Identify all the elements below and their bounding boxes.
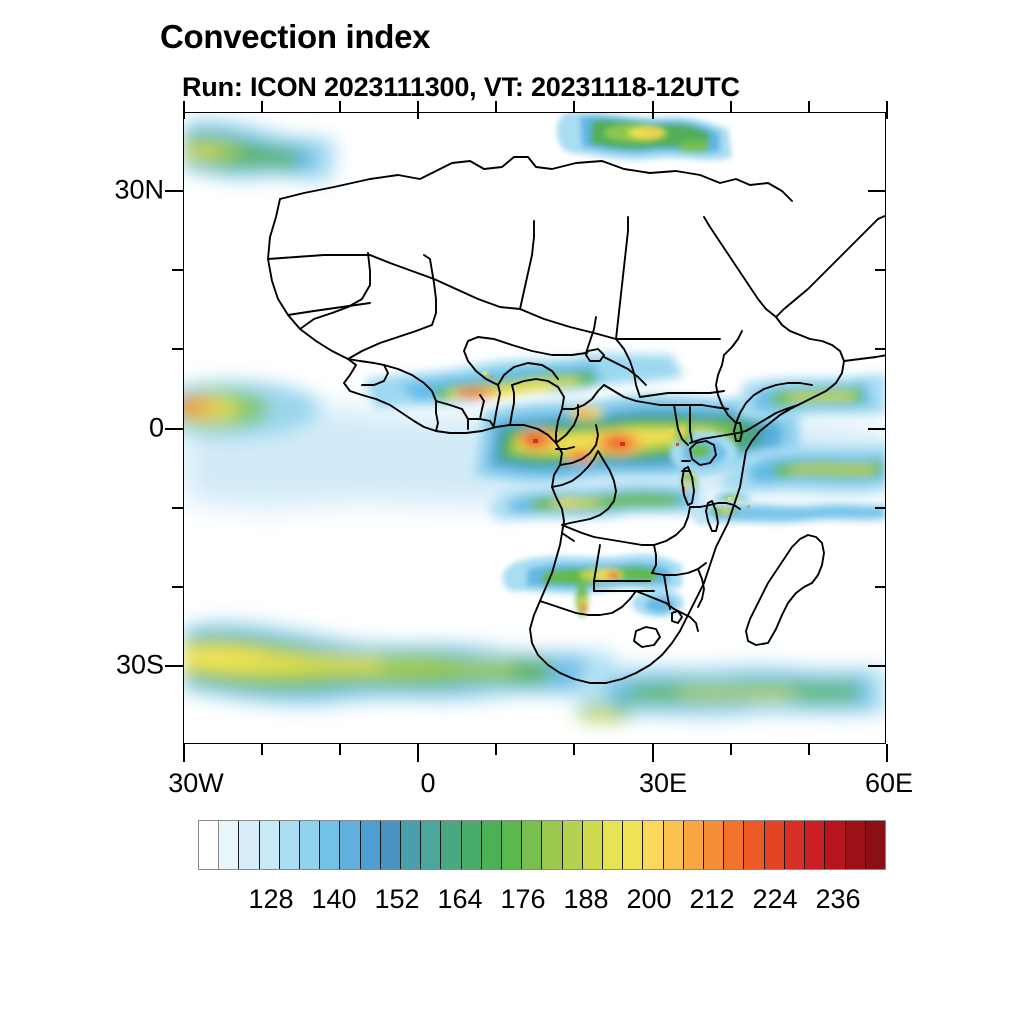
colorbar-cell-4 — [280, 821, 300, 869]
convection-index-map — [184, 113, 886, 744]
ytick-10s — [172, 507, 183, 509]
colorbar-label-164: 164 — [437, 884, 482, 915]
xtick-top-20w — [261, 101, 263, 112]
xtick-label-30e: 30E — [639, 768, 687, 799]
colorbar-cell-23 — [664, 821, 684, 869]
xtick-top-10w — [339, 101, 341, 112]
colorbar-cell-19 — [583, 821, 603, 869]
colorbar-label-236: 236 — [815, 884, 860, 915]
colorbar-cell-2 — [239, 821, 259, 869]
colorbar-cell-28 — [765, 821, 785, 869]
colorbar-cell-21 — [623, 821, 643, 869]
xtick-10w — [339, 744, 341, 755]
colorbar-cell-24 — [684, 821, 704, 869]
xtick-top-50e — [808, 101, 810, 112]
xtick-top-60e — [886, 101, 888, 119]
colorbar-cell-8 — [361, 821, 381, 869]
xtick-top-30w — [183, 101, 185, 119]
xtick-top-30e — [652, 101, 654, 119]
page-title: Convection index — [160, 18, 430, 56]
colorbar-cell-26 — [724, 821, 744, 869]
ytick-right-30n — [868, 190, 886, 192]
colorbar-cell-18 — [563, 821, 583, 869]
ytick-right-10s — [875, 507, 886, 509]
colorbar-cell-13 — [462, 821, 482, 869]
colorbar-cell-20 — [603, 821, 623, 869]
colorbar-cell-17 — [542, 821, 562, 869]
xtick-30w — [183, 744, 185, 762]
colorbar-cell-25 — [704, 821, 724, 869]
colorbar-label-224: 224 — [752, 884, 797, 915]
xtick-40e — [730, 744, 732, 755]
colorbar-cell-9 — [381, 821, 401, 869]
ytick-10n — [172, 348, 183, 350]
colorbar-cell-3 — [260, 821, 280, 869]
colorbar-cell-31 — [825, 821, 845, 869]
colorbar-label-200: 200 — [626, 884, 671, 915]
xtick-30e — [652, 744, 654, 762]
xtick-label-30w: 30W — [168, 768, 224, 799]
xtick-20e — [573, 744, 575, 755]
colorbar-cell-33 — [866, 821, 885, 869]
colorbar-label-212: 212 — [689, 884, 734, 915]
ytick-right-20s — [875, 586, 886, 588]
colorbar-cell-12 — [441, 821, 461, 869]
xtick-0 — [417, 744, 419, 762]
colorbar-cell-0 — [199, 821, 219, 869]
colorbar-cell-16 — [522, 821, 542, 869]
xtick-top-20e — [573, 101, 575, 112]
ytick-right-0 — [868, 428, 886, 430]
xtick-label-0: 0 — [420, 768, 435, 799]
ytick-label-30s: 30S — [116, 650, 164, 681]
xtick-50e — [808, 744, 810, 755]
xtick-top-40e — [730, 101, 732, 112]
colorbar-label-128: 128 — [248, 884, 293, 915]
colorbar-cell-30 — [805, 821, 825, 869]
colorbar-cell-32 — [846, 821, 866, 869]
run-valid-time-subtitle: Run: ICON 2023111300, VT: 20231118-12UTC — [182, 72, 740, 103]
ytick-20n — [172, 269, 183, 271]
colorbar-label-140: 140 — [311, 884, 356, 915]
ytick-label-0: 0 — [149, 413, 164, 444]
xtick-10e — [495, 744, 497, 755]
colorbar[interactable] — [198, 820, 886, 870]
ytick-right-30s — [868, 665, 886, 667]
ytick-30n — [165, 190, 183, 192]
ytick-30s — [165, 665, 183, 667]
colorbar-cell-29 — [785, 821, 805, 869]
colorbar-cell-27 — [744, 821, 764, 869]
map-plot-area[interactable] — [183, 112, 886, 744]
colorbar-cell-7 — [340, 821, 360, 869]
ytick-label-30n: 30N — [114, 175, 164, 206]
ytick-right-10n — [875, 348, 886, 350]
colorbar-cell-6 — [320, 821, 340, 869]
colorbar-cell-1 — [219, 821, 239, 869]
xtick-top-10e — [495, 101, 497, 112]
colorbar-label-176: 176 — [500, 884, 545, 915]
colorbar-cell-10 — [401, 821, 421, 869]
colorbar-cell-15 — [502, 821, 522, 869]
colorbar-cell-22 — [643, 821, 663, 869]
ytick-0 — [165, 428, 183, 430]
colorbar-label-188: 188 — [563, 884, 608, 915]
figure-root: Convection index Run: ICON 2023111300, V… — [0, 0, 1024, 1024]
colorbar-label-152: 152 — [374, 884, 419, 915]
colorbar-cell-5 — [300, 821, 320, 869]
colorbar-cell-11 — [421, 821, 441, 869]
ytick-20s — [172, 586, 183, 588]
xtick-label-60e: 60E — [865, 768, 913, 799]
xtick-top-0 — [417, 101, 419, 119]
xtick-20w — [261, 744, 263, 755]
colorbar-cell-14 — [482, 821, 502, 869]
xtick-60e — [886, 744, 888, 762]
ytick-right-20n — [875, 269, 886, 271]
